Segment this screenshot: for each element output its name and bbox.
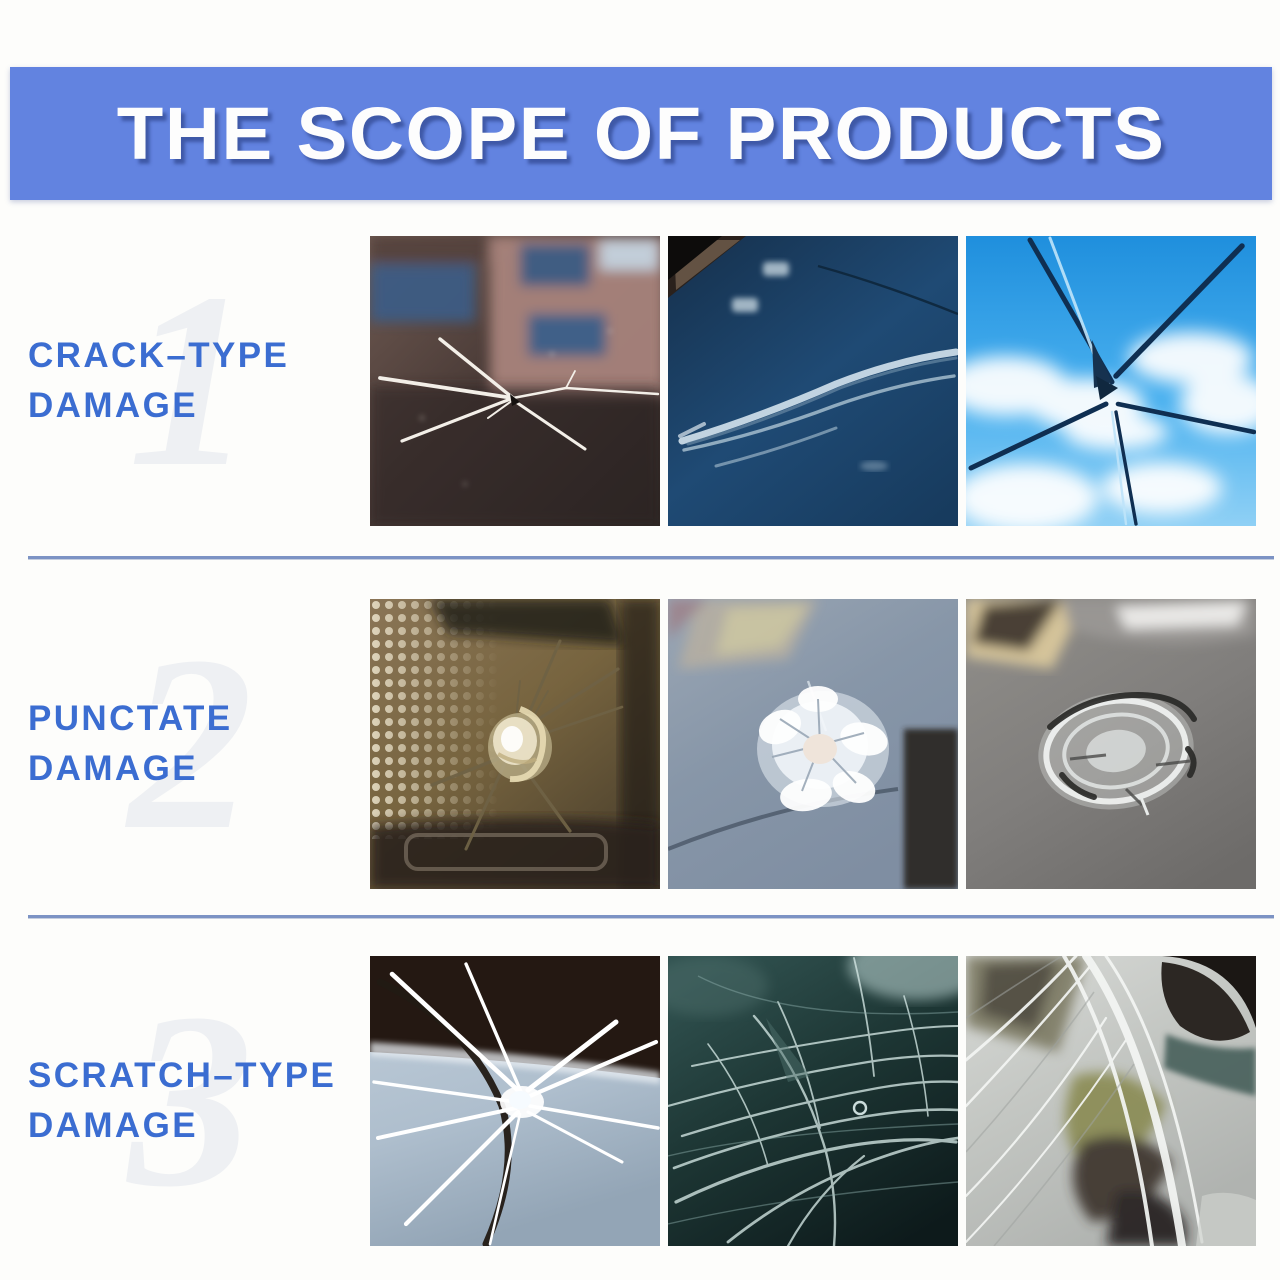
category-label-line2: DAMAGE	[28, 1101, 336, 1151]
photo-crack-long-line-blue	[668, 236, 958, 526]
header-banner: THE SCOPE OF PRODUCTS	[10, 67, 1272, 200]
category-row-punctate: 2 PUNCTATE DAMAGE	[0, 598, 1280, 890]
category-label: PUNCTATE DAMAGE	[0, 694, 233, 793]
photo-scratch-bright-diagonal	[966, 956, 1256, 1246]
category-label-cell: 2 PUNCTATE DAMAGE	[0, 598, 370, 890]
category-row-crack-type: 1 CRACK–TYPE DAMAGE	[0, 235, 1280, 527]
photo-scratch-dense-teal	[668, 956, 958, 1246]
category-label-cell: 3 SCRATCH–TYPE DAMAGE	[0, 955, 370, 1247]
photo-punctate-flower-chip-gray	[668, 599, 958, 889]
photo-grid-row-2	[370, 599, 1256, 889]
section-divider-2	[28, 915, 1274, 918]
photo-crack-sky-clouds	[966, 236, 1256, 526]
photo-grid-row-1	[370, 236, 1256, 526]
photo-punctate-bullseye-gray	[966, 599, 1256, 889]
page-title: THE SCOPE OF PRODUCTS	[117, 91, 1166, 176]
category-label-cell: 1 CRACK–TYPE DAMAGE	[0, 235, 370, 527]
category-label-line2: DAMAGE	[28, 381, 289, 431]
photo-crack-star-building	[370, 236, 660, 526]
photo-punctate-chip-tan-frit	[370, 599, 660, 889]
category-label: CRACK–TYPE DAMAGE	[0, 331, 289, 430]
category-row-scratch-type: 3 SCRATCH–TYPE DAMAGE	[0, 955, 1280, 1247]
photo-grid-row-3	[370, 956, 1256, 1246]
category-label: SCRATCH–TYPE DAMAGE	[0, 1051, 336, 1150]
category-label-line1: SCRATCH–TYPE	[28, 1056, 336, 1095]
photo-scratch-white-radiating	[370, 956, 660, 1246]
category-label-line2: DAMAGE	[28, 744, 233, 794]
category-label-line1: PUNCTATE	[28, 699, 233, 738]
section-divider-1	[28, 556, 1274, 559]
category-label-line1: CRACK–TYPE	[28, 336, 289, 375]
